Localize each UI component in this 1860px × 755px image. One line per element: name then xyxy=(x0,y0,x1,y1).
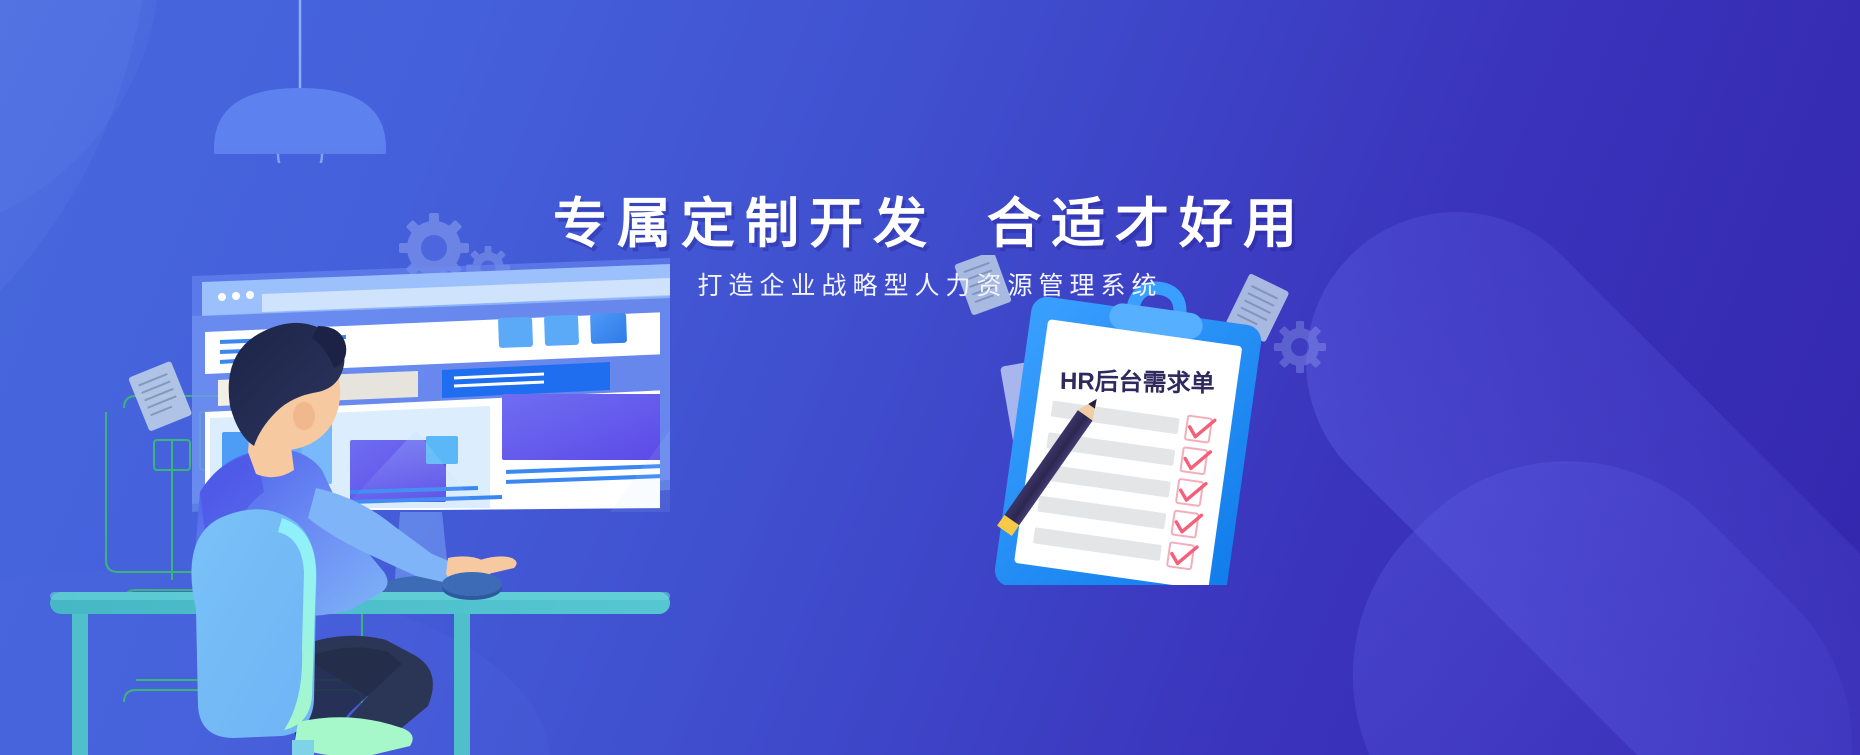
lamp-shade xyxy=(214,88,386,148)
screen-tile xyxy=(544,315,579,346)
floating-document-icon xyxy=(128,361,192,432)
person-at-desk-svg xyxy=(50,140,670,755)
person-at-desk-illustration xyxy=(50,140,670,755)
floating-document-icon xyxy=(954,255,1012,316)
hr-clipboard-illustration: HR后台需求单 xyxy=(940,255,1410,585)
hr-clipboard-svg: HR后台需求单 xyxy=(940,255,1410,585)
clipboard-title: HR后台需求单 xyxy=(1060,367,1215,398)
screen-tile xyxy=(498,317,533,348)
hero-banner: HR后台需求单 xyxy=(0,0,1860,755)
screen-tile xyxy=(590,313,627,344)
pendant-lamp xyxy=(200,0,400,163)
clipboard: HR后台需求单 xyxy=(989,270,1267,585)
pendant-lamp-svg xyxy=(200,0,400,163)
chair-post xyxy=(292,740,314,755)
person-ear xyxy=(293,402,315,430)
